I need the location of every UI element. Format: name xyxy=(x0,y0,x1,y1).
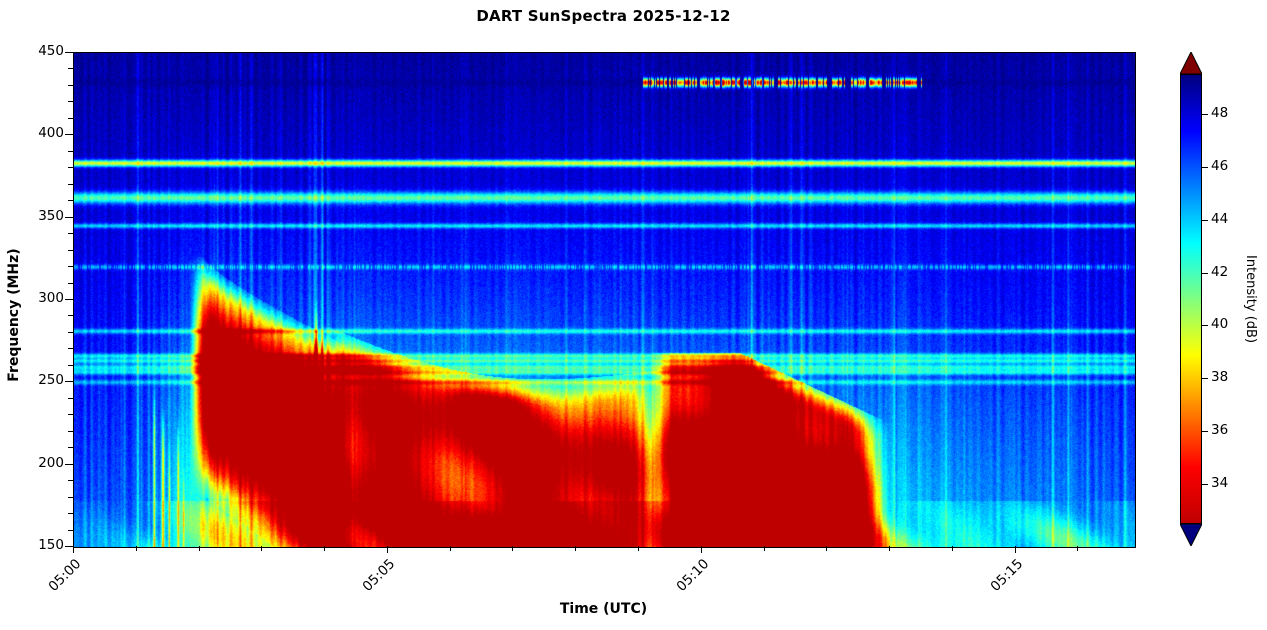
x-tick xyxy=(1015,546,1016,553)
colorbar-tick-label: 48 xyxy=(1211,105,1228,121)
spectrogram-image-wrap xyxy=(74,53,1135,547)
x-tick-minor xyxy=(261,546,262,551)
y-tick-minor xyxy=(68,480,73,481)
y-tick-label: 350 xyxy=(38,208,64,224)
y-tick-label: 400 xyxy=(38,125,64,141)
colorbar-tick-label: 40 xyxy=(1211,316,1228,332)
spectrogram-axes xyxy=(73,52,1136,548)
y-tick-minor xyxy=(68,530,73,531)
colorbar-body xyxy=(1180,74,1202,524)
y-tick-minor xyxy=(68,266,73,267)
y-tick-label: 250 xyxy=(38,372,64,388)
y-tick-minor xyxy=(68,315,73,316)
y-tick xyxy=(65,381,73,382)
y-tick-minor xyxy=(68,283,73,284)
colorbar-extend-top-icon xyxy=(1180,52,1202,74)
y-tick-label: 150 xyxy=(38,537,64,553)
y-tick xyxy=(65,217,73,218)
y-tick xyxy=(65,464,73,465)
y-axis-label: Frequency (MHz) xyxy=(6,0,24,630)
x-tick-label: 05:05 xyxy=(353,556,398,601)
y-tick-minor xyxy=(68,497,73,498)
y-tick-minor xyxy=(68,233,73,234)
colorbar xyxy=(1180,52,1202,546)
x-axis-label: Time (UTC) xyxy=(73,601,1134,617)
y-tick-label: 450 xyxy=(38,43,64,59)
y-tick-minor xyxy=(68,101,73,102)
colorbar-gradient xyxy=(1181,75,1201,523)
y-tick xyxy=(65,299,73,300)
colorbar-tick-label: 38 xyxy=(1211,369,1228,385)
colorbar-tick xyxy=(1202,378,1208,379)
colorbar-tick-label: 34 xyxy=(1211,475,1228,491)
colorbar-tick xyxy=(1202,220,1208,221)
y-tick-minor xyxy=(68,151,73,152)
y-tick-minor xyxy=(68,184,73,185)
colorbar-title: Intensity (dB) xyxy=(1240,52,1258,546)
y-tick xyxy=(65,52,73,53)
y-tick-minor xyxy=(68,85,73,86)
y-axis-label-container: Frequency (MHz) xyxy=(8,0,26,630)
colorbar-tick xyxy=(1202,431,1208,432)
colorbar-tick-label: 42 xyxy=(1211,264,1228,280)
x-tick-minor xyxy=(575,546,576,551)
y-tick-label: 200 xyxy=(38,455,64,471)
x-tick-label: 05:15 xyxy=(981,556,1026,601)
y-tick-minor xyxy=(68,68,73,69)
y-tick-minor xyxy=(68,447,73,448)
spectrogram-image xyxy=(74,53,1135,547)
page-title: DART SunSpectra 2025-12-12 xyxy=(0,7,1207,25)
y-tick-minor xyxy=(68,431,73,432)
spectrogram-figure: DART SunSpectra 2025-12-12 Frequency (MH… xyxy=(0,0,1267,630)
colorbar-tick-label: 36 xyxy=(1211,422,1228,438)
x-tick-minor xyxy=(199,546,200,551)
y-tick-minor xyxy=(68,118,73,119)
colorbar-extend-bottom-icon xyxy=(1180,524,1202,546)
y-tick-minor xyxy=(68,167,73,168)
y-tick-label: 300 xyxy=(38,290,64,306)
x-tick-label: 05:00 xyxy=(39,556,84,601)
x-tick xyxy=(73,546,74,553)
colorbar-tick xyxy=(1202,273,1208,274)
y-tick-minor xyxy=(68,398,73,399)
x-tick-minor xyxy=(324,546,325,551)
colorbar-tick-label: 46 xyxy=(1211,158,1228,174)
x-tick-minor xyxy=(512,546,513,551)
x-tick-minor xyxy=(1077,546,1078,551)
x-tick-minor xyxy=(952,546,953,551)
colorbar-tick-label: 44 xyxy=(1211,211,1228,227)
y-tick-minor xyxy=(68,200,73,201)
colorbar-tick xyxy=(1202,114,1208,115)
x-tick-minor xyxy=(764,546,765,551)
x-tick-minor xyxy=(450,546,451,551)
y-tick-minor xyxy=(68,365,73,366)
x-tick-minor xyxy=(889,546,890,551)
x-tick-label: 05:10 xyxy=(667,556,712,601)
y-tick-minor xyxy=(68,513,73,514)
x-tick xyxy=(387,546,388,553)
x-tick-minor xyxy=(638,546,639,551)
x-tick-minor xyxy=(136,546,137,551)
x-tick-minor xyxy=(826,546,827,551)
colorbar-tick xyxy=(1202,167,1208,168)
x-tick xyxy=(701,546,702,553)
y-tick-minor xyxy=(68,414,73,415)
colorbar-title-container: Intensity (dB) xyxy=(1240,52,1258,546)
y-tick xyxy=(65,134,73,135)
colorbar-tick xyxy=(1202,484,1208,485)
y-tick-minor xyxy=(68,348,73,349)
y-tick-minor xyxy=(68,332,73,333)
y-tick xyxy=(65,546,73,547)
colorbar-tick xyxy=(1202,325,1208,326)
y-tick-minor xyxy=(68,250,73,251)
